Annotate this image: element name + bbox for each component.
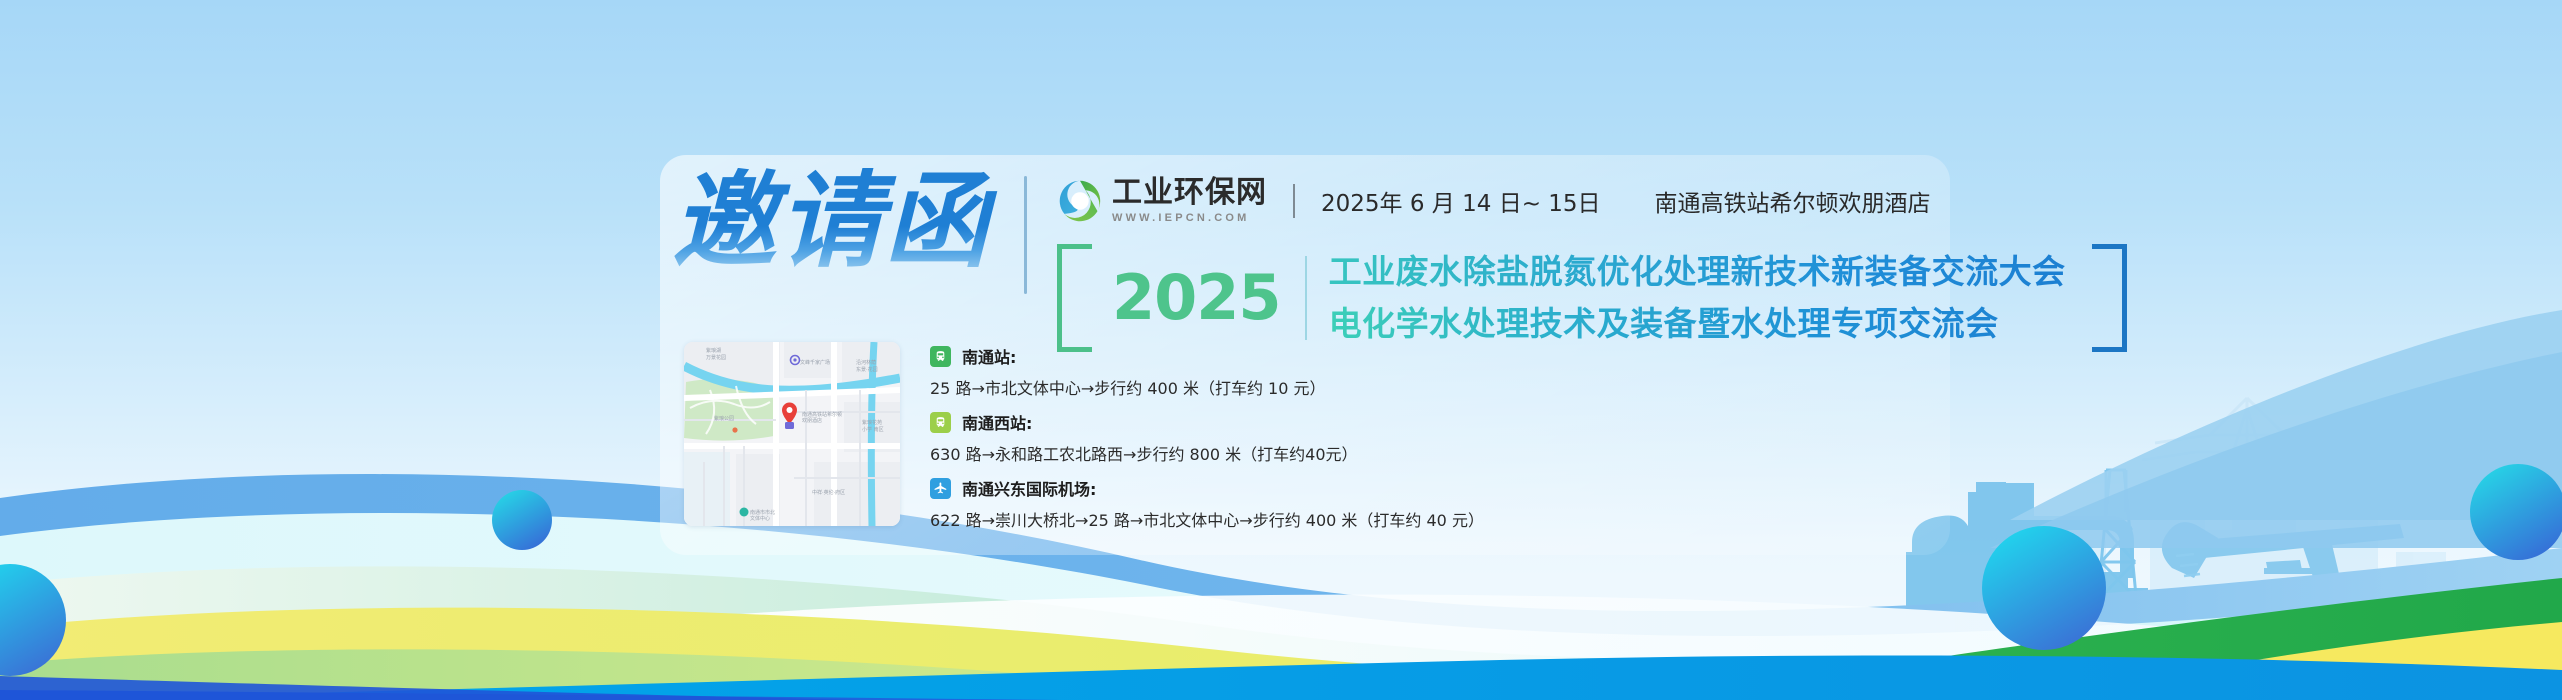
svg-text:文体中心: 文体中心 xyxy=(750,515,770,522)
conference-year: 2025 xyxy=(1092,244,1305,352)
brand-logo: 工业环保网 WWW.IEPCN.COM xyxy=(1057,178,1267,224)
transport-item-head: 南通站: xyxy=(930,344,1484,368)
svg-text:欢朋酒店: 欢朋酒店 xyxy=(802,417,822,424)
conference-title-line-1: 工业废水除盐脱氮优化处理新技术新装备交流大会 xyxy=(1329,246,2066,298)
svg-text:南通市市北: 南通市市北 xyxy=(750,509,775,516)
svg-text:小学 南区: 小学 南区 xyxy=(862,426,884,433)
gradient-sphere-small xyxy=(492,490,552,550)
event-date: 2025年 6 月 14 日~ 15日 xyxy=(1321,184,1601,218)
meta-row: 工业环保网 WWW.IEPCN.COM 2025年 6 月 14 日~ 15日 … xyxy=(1057,172,2127,230)
transport-station-name: 南通站: xyxy=(962,344,1016,368)
headline-right-column: 工业环保网 WWW.IEPCN.COM 2025年 6 月 14 日~ 15日 … xyxy=(1057,168,2127,352)
svg-text:沿河林荫: 沿河林荫 xyxy=(856,359,876,366)
invitation-banner: 邀请函 xyxy=(0,0,2562,700)
train-station-icon xyxy=(930,346,951,367)
conference-lines: 工业废水除盐脱氮优化处理新技术新装备交流大会 电化学水处理技术及装备暨水处理专项… xyxy=(1329,244,2066,352)
headline-row: 邀请函 xyxy=(672,168,2127,352)
transport-route: 630 路→永和路工农北路西→步行约 800 米（打车约40元） xyxy=(930,441,1484,465)
transport-route: 25 路→市北文体中心→步行约 400 米（打车约 10 元） xyxy=(930,375,1484,399)
brand-text: 工业环保网 WWW.IEPCN.COM xyxy=(1112,178,1267,224)
train-station-icon xyxy=(930,412,951,433)
transport-item-head: 南通西站: xyxy=(930,410,1484,434)
list-item: 南通西站: 630 路→永和路工农北路西→步行约 800 米（打车约40元） xyxy=(930,410,1484,465)
airplane-icon xyxy=(930,478,951,499)
svg-text:文峰千家广场: 文峰千家广场 xyxy=(800,359,830,366)
svg-text:中祥·英伦·府区: 中祥·英伦·府区 xyxy=(812,489,845,496)
transport-route: 622 路→崇川大桥北→25 路→市北文体中心→步行约 400 米（打车约 40… xyxy=(930,507,1484,531)
list-item: 南通兴东国际机场: 622 路→崇川大桥北→25 路→市北文体中心→步行约 40… xyxy=(930,476,1484,531)
transport-item-head: 南通兴东国际机场: xyxy=(930,476,1484,500)
far-skyline-icon xyxy=(1990,492,2446,628)
meta-separator xyxy=(1293,184,1295,218)
svg-text:紫琅花苑: 紫琅花苑 xyxy=(862,419,882,426)
venue-location-map[interactable]: 紫琅湖万景花园 紫琅公园 沿河林荫东景·花园 紫琅花苑小学 南区 中祥·英伦·府… xyxy=(684,342,900,526)
page-title: 邀请函 xyxy=(672,168,998,274)
gradient-sphere-left xyxy=(0,564,66,676)
event-venue: 南通高铁站希尔顿欢朋酒店 xyxy=(1655,184,1931,218)
brand-url: WWW.IEPCN.COM xyxy=(1112,213,1267,224)
gradient-sphere-right xyxy=(2470,464,2562,560)
bracket-right-icon xyxy=(2092,244,2127,352)
circular-swirl-logo-icon xyxy=(1057,178,1103,224)
conference-divider xyxy=(1305,256,1307,340)
transport-station-name: 南通西站: xyxy=(962,410,1032,434)
power-transmission-tower-icon xyxy=(2142,398,2352,468)
svg-text:紫琅公园: 紫琅公园 xyxy=(714,415,734,422)
svg-text:万景花园: 万景花园 xyxy=(706,354,726,361)
svg-text:东景·花园: 东景·花园 xyxy=(856,366,878,373)
bracket-left-icon xyxy=(1057,244,1092,352)
derrick-tower-icon xyxy=(2094,470,2140,638)
brand-name: 工业环保网 xyxy=(1112,178,1267,208)
svg-text:南通高铁站希尔顿: 南通高铁站希尔顿 xyxy=(802,411,842,418)
svg-text:紫琅湖: 紫琅湖 xyxy=(706,347,721,354)
transport-list: 南通站: 25 路→市北文体中心→步行约 400 米（打车约 10 元） 南通西… xyxy=(930,342,1484,542)
gradient-sphere-large xyxy=(1982,526,2106,650)
list-item: 南通站: 25 路→市北文体中心→步行约 400 米（打车约 10 元） xyxy=(930,344,1484,399)
transport-station-name: 南通兴东国际机场: xyxy=(962,476,1096,500)
headline-divider xyxy=(1024,176,1027,294)
conference-title-block: 2025 工业废水除盐脱氮优化处理新技术新装备交流大会 电化学水处理技术及装备暨… xyxy=(1057,244,2127,352)
pump-jack-icon xyxy=(2162,522,2404,587)
transport-panel: 紫琅湖万景花园 紫琅公园 沿河林荫东景·花园 紫琅花苑小学 南区 中祥·英伦·府… xyxy=(684,342,1484,542)
